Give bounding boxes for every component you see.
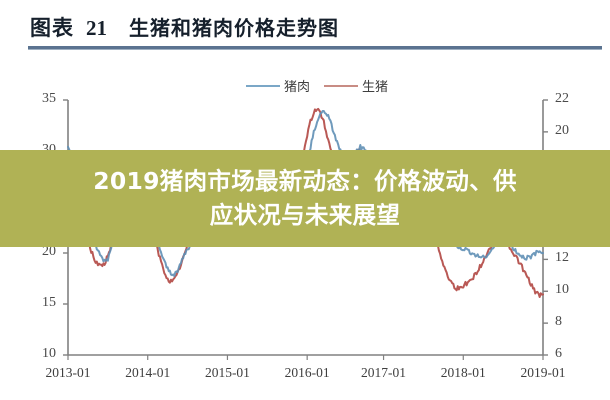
x-tick-2019-01: 2019-01 — [508, 365, 578, 381]
title-divider-thin — [28, 49, 602, 50]
left-tick-15: 15 — [28, 295, 56, 311]
x-tick-2015-01: 2015-01 — [192, 365, 262, 381]
figure-number: 21 — [86, 16, 107, 41]
legend-swatch-pork — [246, 85, 280, 87]
right-tick-12: 12 — [555, 250, 583, 266]
x-tick-2017-01: 2017-01 — [349, 365, 419, 381]
right-tick-10: 10 — [555, 282, 583, 298]
left-tick-10: 10 — [28, 346, 56, 362]
x-tick-2014-01: 2014-01 — [113, 365, 183, 381]
x-axis-ticks: 2013-012014-012015-012016-012017-012018-… — [0, 365, 610, 385]
x-tick-2018-01: 2018-01 — [428, 365, 498, 381]
right-tick-8: 8 — [555, 314, 583, 330]
right-tick-6: 6 — [555, 346, 583, 362]
right-tick-22: 22 — [555, 91, 583, 107]
figure-label: 图表 — [30, 12, 74, 42]
legend-swatch-hog — [324, 85, 358, 87]
figure-title-row: 图表 21 生猪和猪肉价格走势图 — [30, 12, 339, 42]
x-tick-2016-01: 2016-01 — [272, 365, 342, 381]
overlay-line-2: 应状况与未来展望 — [25, 199, 585, 232]
x-tick-2013-01: 2013-01 — [33, 365, 103, 381]
overlay-banner: 2019猪肉市场最新动态：价格波动、供 应状况与未来展望 — [0, 150, 610, 247]
right-tick-20: 20 — [555, 123, 583, 139]
left-tick-35: 35 — [28, 91, 56, 107]
overlay-line-1: 2019猪肉市场最新动态：价格波动、供 — [93, 167, 517, 195]
figure-title: 生猪和猪肉价格走势图 — [129, 12, 339, 41]
figure-screenshot: 图表 21 生猪和猪肉价格走势图 猪肉 生猪 101520253035 6810… — [0, 0, 610, 400]
overlay-banner-text: 2019猪肉市场最新动态：价格波动、供 应状况与未来展望 — [25, 165, 585, 232]
